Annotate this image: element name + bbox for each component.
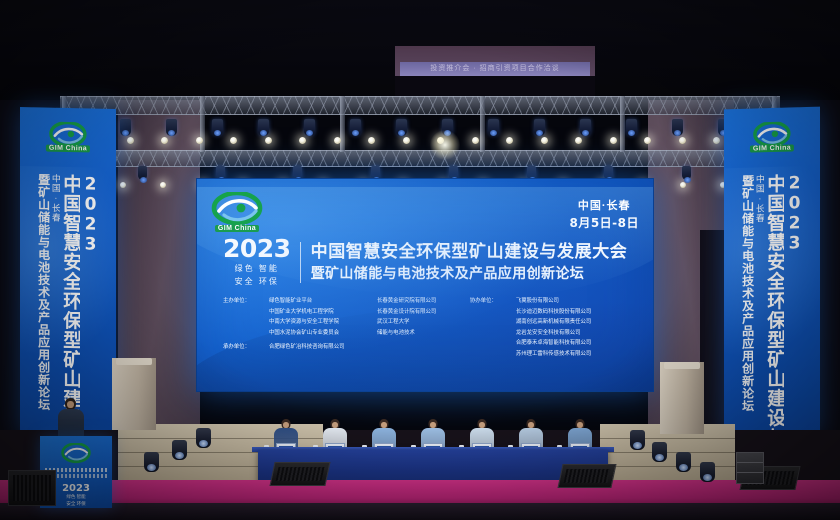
- moving-head-icon: [138, 166, 147, 180]
- banner-logo-left: GIM China: [46, 122, 90, 153]
- par-lamp-icon: [541, 137, 548, 144]
- cohost-3: 龙岩龙安安全科技有限公司: [470, 328, 639, 339]
- moving-head-icon: [534, 119, 545, 136]
- banner-year-right: 2023: [785, 173, 802, 437]
- panelist-face: [430, 422, 436, 428]
- cohost-5: 苏州理工雷科传感技术有限公司: [470, 349, 639, 360]
- floor-moving-head-icon: [172, 440, 187, 460]
- truss-leg: [480, 96, 485, 152]
- floor-moving-head-icon: [700, 462, 715, 482]
- host-col2-0: 长春黄金研究院有限公司: [377, 296, 436, 307]
- speaker-stack-left: [8, 470, 56, 506]
- lighting-truss-lower: [35, 150, 805, 167]
- stage-monitor-right: [557, 464, 616, 488]
- floor-moving-head-icon: [630, 430, 645, 450]
- banner-title-right: 中国智慧安全环保型矿山建设与发展大会: [765, 174, 784, 439]
- moving-head-icon: [626, 119, 637, 136]
- moving-head-icon: [120, 119, 131, 136]
- led-backdrop-screen: GIM China 中国·长春 8月5日-8日 2023 绿色 智能 安全 环保…: [196, 178, 654, 392]
- host-label-spacer: [223, 307, 269, 318]
- organizer-label: 承办单位：: [223, 342, 269, 353]
- truss-leg: [620, 96, 625, 152]
- cohost-0: 飞翼股份有限公司: [516, 296, 559, 307]
- par-lamp-icon: [713, 137, 720, 144]
- screen-title-main: 中国智慧安全环保型矿山建设与发展大会: [311, 242, 628, 262]
- stage-front-edge: [0, 503, 840, 520]
- speaker-body: [58, 409, 84, 438]
- screen-dates: 8月5日-8日: [569, 215, 639, 232]
- vertical-banner-right: GIM China 2023 中国智慧安全环保型矿山建设与发展大会 中国·长春 …: [724, 107, 820, 440]
- cohost-1: 长沙迪迈数码科技股份有限公司: [470, 307, 639, 318]
- panelist-face: [479, 422, 485, 428]
- credits-row: 协办单位： 飞翼股份有限公司: [470, 296, 639, 307]
- banner-logo-right: GIM China: [750, 121, 794, 152]
- lectern-logo: [61, 443, 91, 469]
- floor-moving-head-icon: [652, 442, 667, 462]
- screen-title-sub: 暨矿山储能与电池技术及产品应用创新论坛: [311, 265, 628, 283]
- moving-head-icon: [682, 166, 691, 180]
- host-col1-0: 绿色智能矿业平台: [269, 296, 377, 307]
- par-lamp-icon: [368, 137, 375, 144]
- panelist-face: [381, 422, 387, 428]
- gim-china-logo-icon: [211, 192, 263, 228]
- moving-head-icon: [396, 119, 407, 136]
- vertical-banner-left: GIM China 2023 中国智慧安全环保型矿山建设与发展大会 中国·长春 …: [20, 107, 116, 439]
- cohost-2: 湖南创远高新机械有限责任公司: [470, 317, 639, 328]
- ceiling-banner: 投资推介会 · 招商引资项目合作洽谈: [400, 62, 590, 76]
- balustrade-right: [660, 362, 704, 434]
- par-lamp-icon: [472, 137, 479, 144]
- speaker-face: [67, 401, 74, 408]
- credits-cohost-column: 协办单位： 飞翼股份有限公司 长沙迪迈数码科技股份有限公司 湖南创远高新机械有限…: [470, 296, 639, 359]
- host-label: 主办单位：: [223, 296, 269, 307]
- credits-row: 中国矿业大学机电工程学院 长春黄金设计院有限公司: [223, 307, 470, 318]
- screen-logo-text: GIM China: [215, 225, 259, 232]
- credits-row: 主办单位： 绿色智能矿业平台 长春黄金研究院有限公司: [223, 296, 470, 307]
- panelist-face: [332, 422, 338, 428]
- panelist-face: [528, 422, 534, 428]
- screen-place-block: 中国·长春 8月5日-8日: [569, 199, 639, 232]
- cohost-4: 合肥泰禾卓海智能科技有限公司: [470, 338, 639, 349]
- conference-stage-photo: 投资推介会 · 招商引资项目合作洽谈 GIM China 2023 中国智慧安全: [0, 0, 840, 520]
- flight-case: [736, 452, 764, 484]
- host-col2-3: 储能与电池技术: [377, 328, 415, 339]
- moving-head-icon: [488, 119, 499, 136]
- host-col1-3: 中国水泥协会矿山专业委员会: [269, 328, 377, 339]
- screen-year: 2023: [223, 237, 291, 261]
- par-lamp-icon: [575, 137, 582, 144]
- banner-logo-text-left: GIM China: [46, 145, 90, 153]
- screen-place: 中国·长春: [569, 199, 639, 215]
- host-col2-1: 长春黄金设计院有限公司: [377, 307, 436, 318]
- floor-moving-head-icon: [676, 452, 691, 472]
- standing-speaker: [58, 398, 84, 438]
- moving-head-icon: [350, 119, 361, 136]
- par-lamp-icon: [680, 182, 686, 188]
- host-col2-2: 武汉工程大学: [377, 317, 409, 328]
- floor-moving-head-icon: [196, 428, 211, 448]
- moving-head-icon: [672, 119, 683, 136]
- truss-leg: [340, 96, 345, 152]
- banner-subtitle-left: 暨矿山储能与电池技术及产品应用创新论坛: [37, 173, 49, 437]
- par-lamp-icon: [506, 137, 513, 144]
- moving-head-icon: [212, 119, 223, 136]
- panelist-face: [577, 422, 583, 428]
- credits-host-column: 主办单位： 绿色智能矿业平台 长春黄金研究院有限公司 中国矿业大学机电工程学院 …: [223, 296, 470, 359]
- screen-year-block: 2023 绿色 智能 安全 环保: [223, 237, 300, 288]
- floor-moving-head-icon: [144, 452, 159, 472]
- banner-city-right: 中国·长春: [755, 174, 764, 438]
- screen-headline-block: 中国智慧安全环保型矿山建设与发展大会 暨矿山储能与电池技术及产品应用创新论坛: [300, 242, 628, 283]
- screen-title-block: 2023 绿色 智能 安全 环保 中国智慧安全环保型矿山建设与发展大会 暨矿山储…: [223, 237, 627, 288]
- par-lamp-icon: [230, 137, 237, 144]
- screen-slogan-2: 安全 环保: [223, 276, 291, 288]
- lamp-hotspot-icon: [430, 130, 460, 160]
- moving-head-icon: [258, 119, 269, 136]
- host-label-spacer: [223, 328, 269, 339]
- par-lamp-icon: [679, 137, 686, 144]
- organizer-name: 合肥绿色矿冶科技咨询有限公司: [269, 342, 344, 353]
- credits-row: 中南大学资源与安全工程学院 武汉工程大学: [223, 317, 470, 328]
- gim-china-logo-icon: [61, 443, 91, 464]
- moving-head-icon: [304, 119, 315, 136]
- lighting-truss-upper: [60, 96, 780, 115]
- par-lamp-icon: [334, 137, 341, 144]
- host-col1-2: 中南大学资源与安全工程学院: [269, 317, 377, 328]
- panelist-face: [283, 422, 289, 428]
- par-lamp-icon: [120, 182, 126, 188]
- screen-logo: GIM China: [211, 192, 263, 232]
- screen-credits: 主办单位： 绿色智能矿业平台 长春黄金研究院有限公司 中国矿业大学机电工程学院 …: [223, 296, 639, 359]
- balustrade-left: [112, 358, 156, 430]
- banner-logo-text-right: GIM China: [750, 144, 794, 152]
- par-lamp-icon: [127, 137, 134, 144]
- par-lamp-icon: [196, 137, 203, 144]
- screen-slogan-1: 绿色 智能: [223, 263, 291, 275]
- credits-row: 承办单位： 合肥绿色矿冶科技咨询有限公司: [223, 342, 470, 353]
- par-lamp-icon: [610, 137, 617, 144]
- cohost-label: 协办单位：: [470, 296, 516, 307]
- banner-subtitle-right: 暨矿山储能与电池技术及产品应用创新论坛: [741, 175, 753, 439]
- par-lamp-icon: [299, 137, 306, 144]
- credits-row: 中国水泥协会矿山专业委员会 储能与电池技术: [223, 328, 470, 339]
- host-col1-1: 中国矿业大学机电工程学院: [269, 307, 377, 318]
- par-lamp-icon: [160, 182, 166, 188]
- moving-head-icon: [166, 119, 177, 136]
- par-lamp-icon: [265, 137, 272, 144]
- host-label-spacer: [223, 317, 269, 328]
- moving-head-icon: [580, 119, 591, 136]
- stage-monitor-left: [269, 462, 330, 486]
- par-lamp-icon: [403, 137, 410, 144]
